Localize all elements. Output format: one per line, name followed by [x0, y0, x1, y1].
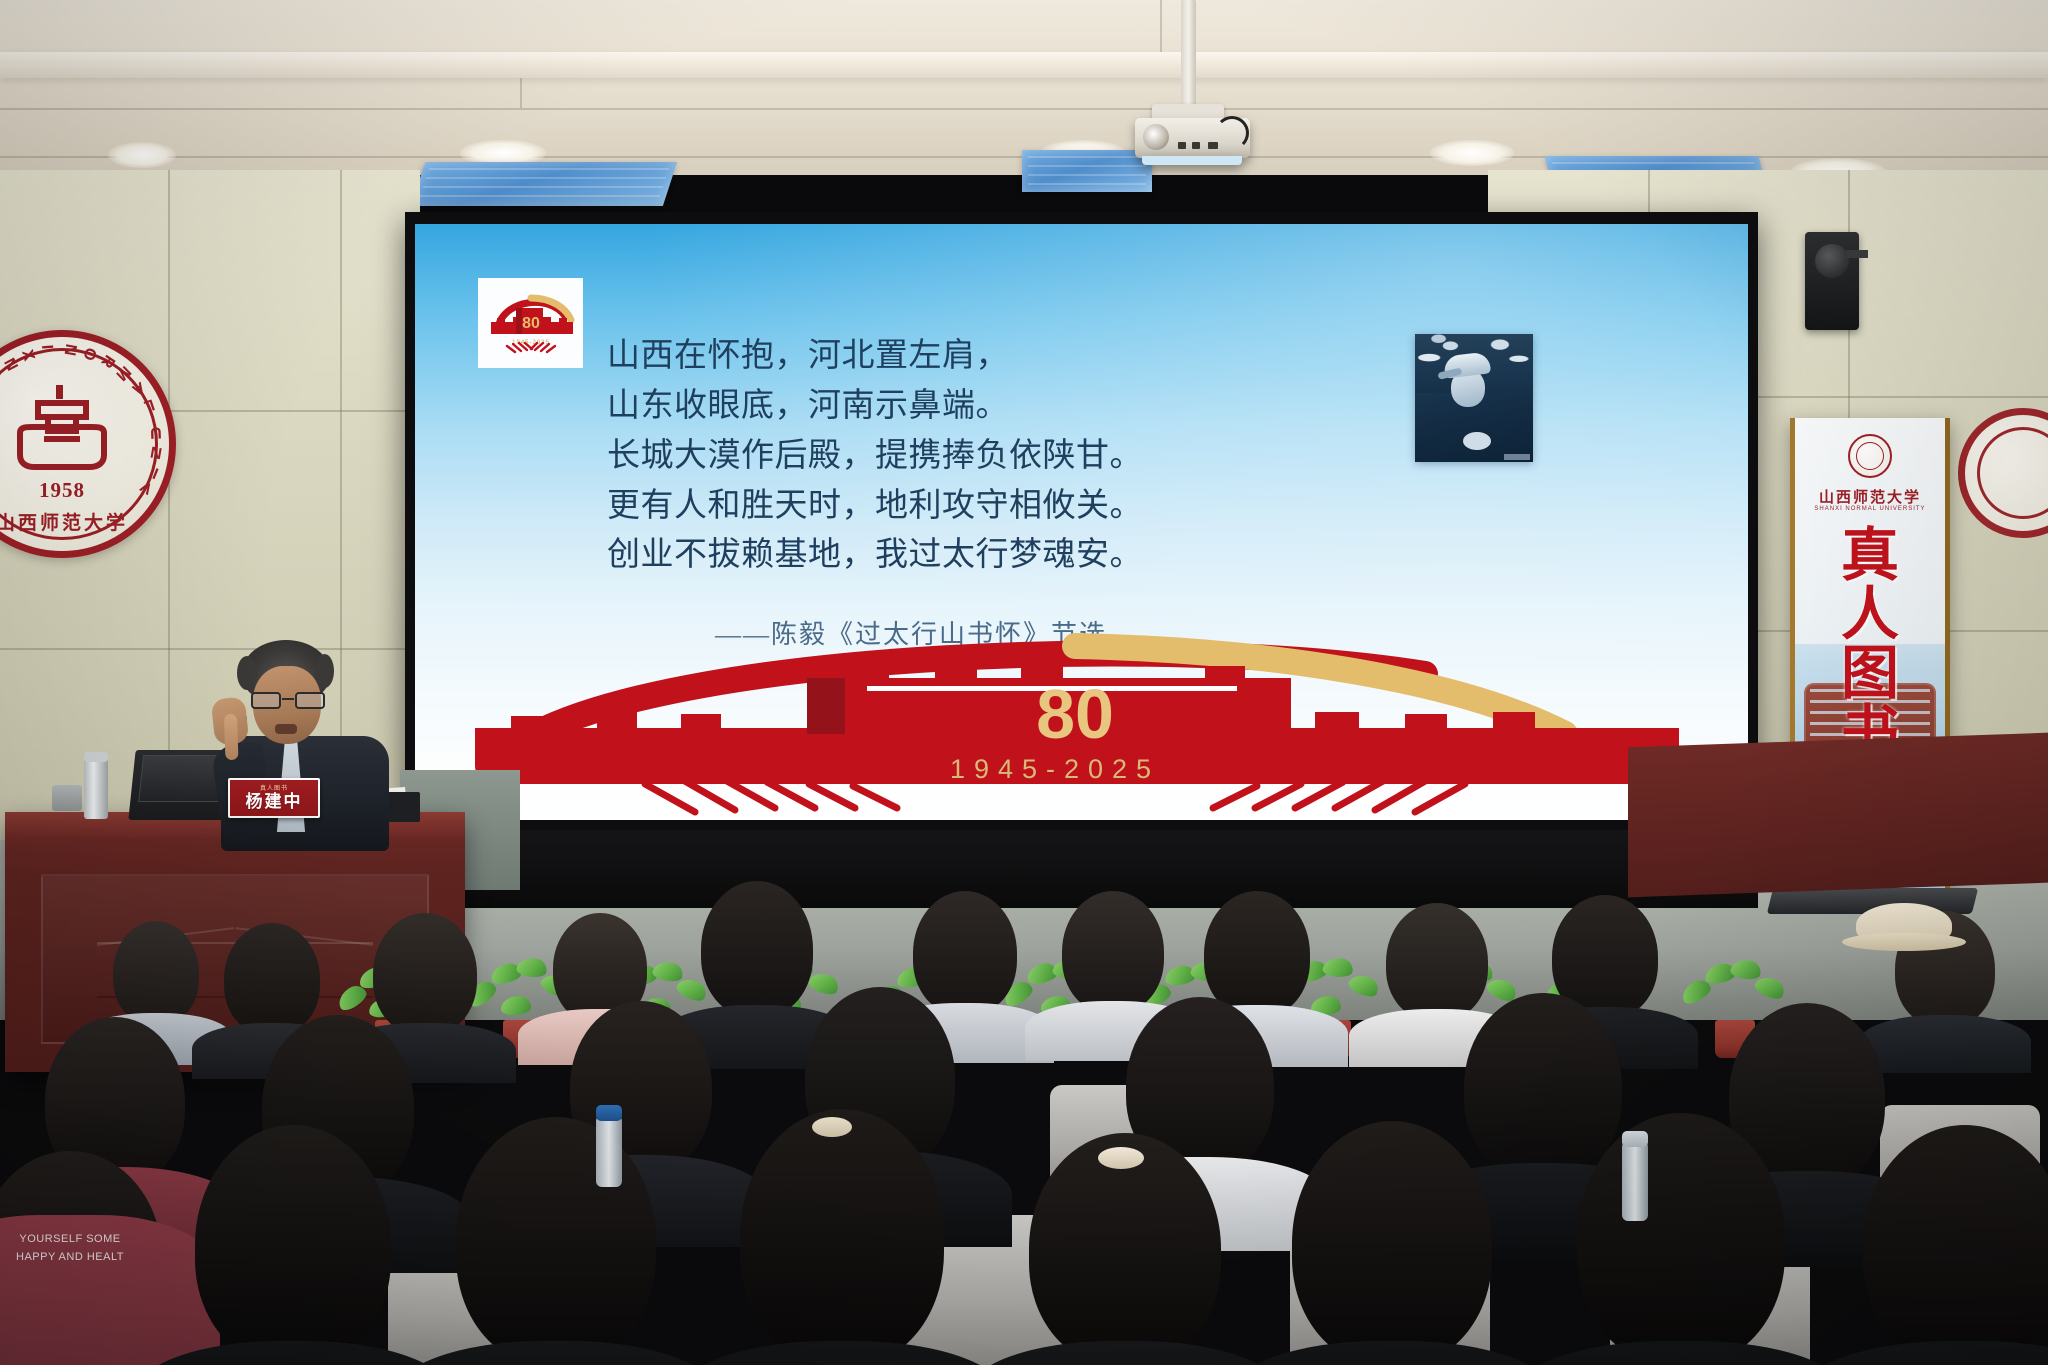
slide-anniversary-banner: 80 1945-2025 [415, 616, 1745, 820]
thermos-bottle [84, 757, 108, 819]
projector-port [1192, 142, 1200, 149]
slide-poem: 山西在怀抱，河北置左肩， 山东收眼底，河南示鼻端。 长城大漠作后殿，提携捧负依陕… [607, 332, 1297, 581]
poem-line: 更有人和胜天时，地利攻守相攸关。 [607, 482, 1297, 529]
rollup-university-name-en: SHANXI NORMAL UNIVERSITY [1795, 506, 1945, 512]
emblem-year: 1958 [0, 478, 169, 503]
emblem-name-cn: 山西师范大学 [0, 508, 169, 535]
rollup-university-crest [1848, 434, 1892, 478]
projector-vent [1142, 156, 1242, 165]
shoulders [966, 1341, 1284, 1365]
shoulders [1228, 1341, 1556, 1365]
presenter-mouth [275, 724, 297, 734]
audience-member [178, 1035, 408, 1365]
ceiling-seam [1160, 0, 1162, 52]
presenter-raised-finger [224, 714, 239, 760]
projection-screen: 80 1945-2025 山西在怀抱，河北置左肩， 山东收眼底，河南示鼻端。 长… [415, 224, 1748, 820]
bottle-cap [1622, 1131, 1648, 1147]
audience-member [1010, 1045, 1240, 1365]
shoulders [133, 1341, 453, 1365]
ceiling [0, 0, 2048, 175]
projector-port [1208, 142, 1218, 149]
poem-line: 长城大漠作后殿，提携捧负依陕甘。 [607, 432, 1297, 479]
glasses-bridge [282, 698, 294, 700]
audience-member [1840, 1035, 2048, 1365]
rollup-title-char: 图 [1795, 644, 1945, 703]
ac-vent [411, 162, 677, 206]
head [1863, 1125, 2048, 1365]
projector-mount-pole [1181, 0, 1196, 108]
projection-screen-frame: 80 1945-2025 山西在怀抱，河北置左肩， 山东收眼底，河南示鼻端。 长… [405, 212, 1758, 830]
historical-portrait-photo [1415, 334, 1533, 462]
head [1292, 1121, 1492, 1365]
head [456, 1117, 656, 1365]
poem-line: 创业不拔赖基地，我过太行梦魂安。 [607, 531, 1297, 578]
svg-text:80: 80 [1036, 675, 1114, 753]
audience-member [722, 1013, 962, 1365]
hair-tie [1098, 1147, 1144, 1169]
rollup-title-char: 真 [1795, 526, 1945, 585]
lecture-hall-scene: S H A N X I N O R M A L U N I V 1958 山西师… [0, 0, 2048, 1365]
university-emblem: S H A N X I N O R M A L U N I V 1958 山西师… [0, 330, 176, 558]
shoulders [1797, 1341, 2048, 1365]
rollup-title-char: 人 [1795, 585, 1945, 644]
speaker-nameplate: 真人图书 杨建中 [228, 778, 320, 818]
anniversary-80-icon: 80 1945-2025 [485, 286, 577, 360]
projector-cable [1215, 116, 1249, 150]
presenter-hand [211, 696, 250, 745]
shoulders [674, 1341, 1010, 1365]
svg-text:80: 80 [522, 315, 540, 332]
thermos-cap [84, 752, 108, 762]
ac-vent [1022, 150, 1152, 192]
slide-anniversary-logo: 80 1945-2025 [478, 278, 583, 368]
audience-member [436, 1025, 676, 1365]
water-bottle [596, 1115, 622, 1187]
nameplate-name: 杨建中 [246, 793, 303, 810]
ceiling-light [1430, 140, 1514, 166]
ceiling-light [108, 142, 176, 168]
water-bottle [1622, 1141, 1648, 1221]
glasses-lens-left [251, 692, 281, 709]
wall-speaker [1805, 232, 1859, 330]
rollup-university-name-cn: 山西师范大学 [1795, 486, 1945, 507]
head [195, 1125, 391, 1365]
bottle-cap [596, 1105, 622, 1121]
head [1577, 1113, 1785, 1365]
nameplate-face: 真人图书 杨建中 [230, 780, 318, 816]
hair-tie [812, 1117, 852, 1137]
head [740, 1109, 944, 1365]
photo-watermark [1504, 454, 1530, 460]
ceiling-beam [0, 52, 2048, 78]
audience-member [1272, 1029, 1512, 1365]
emblem-book-glyph [10, 383, 114, 479]
projector-port [1178, 142, 1186, 149]
ceiling-seam [520, 78, 522, 108]
shoulders [1510, 1341, 1852, 1365]
desk-cup [52, 785, 82, 811]
svg-text:1945-2025: 1945-2025 [950, 754, 1160, 784]
speaker-bracket [1846, 250, 1868, 258]
poem-line: 山西在怀抱，河北置左肩， [607, 332, 1297, 379]
shoulders [391, 1341, 721, 1365]
glasses-lens-right [295, 692, 325, 709]
audience-member [1556, 1019, 1806, 1365]
ceiling-seam [0, 108, 2048, 110]
projector-lens-icon [1143, 124, 1169, 150]
poem-line: 山东收眼底，河南示鼻端。 [607, 382, 1297, 429]
glasses-icon [249, 692, 327, 709]
audience: YOURSELF SOME HAPPY AND HEALT [0, 845, 2048, 1365]
